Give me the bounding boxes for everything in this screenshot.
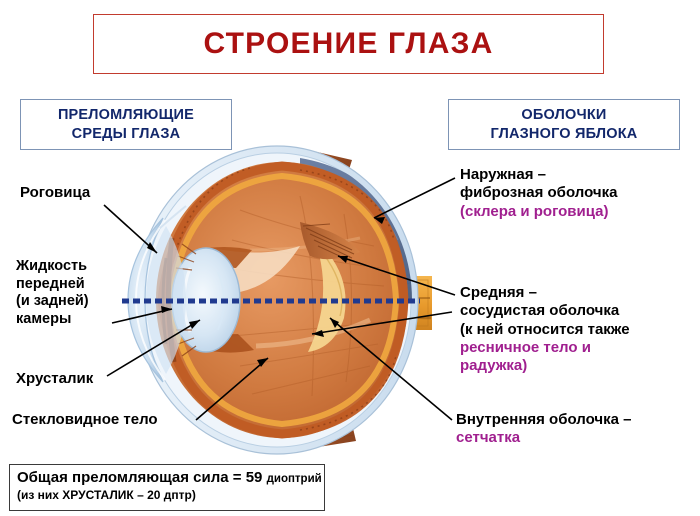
footer-line1: Общая преломляющая сила = 59 диоптрий [17, 469, 317, 486]
vitreous-body [156, 162, 408, 438]
label-inner-tunic: Внутренняя оболочка – сетчатка [456, 411, 631, 448]
label-cornea-text: Роговица [20, 184, 90, 201]
label-aqueous-humor-line1: Жидкость [16, 258, 89, 276]
label-cornea: Роговица [20, 184, 90, 202]
page-title: СТРОЕНИЕ ГЛАЗА [203, 27, 493, 61]
label-outer-tunic-line2: фиброзная оболочка [460, 184, 617, 202]
label-middle-tunic-line1: Средняя – [460, 284, 630, 302]
sclera [136, 146, 418, 454]
label-middle-tunic-line4: ресничное тело и [460, 339, 630, 357]
iris-upper [196, 247, 252, 268]
header-eyeball-tunics-line2: ГЛАЗНОГО ЯБЛОКА [491, 125, 638, 144]
footer-line2: (из них ХРУСТАЛИК – 20 дптр) [17, 488, 317, 502]
lens [172, 248, 240, 352]
label-vitreous-body-text: Стекловидное тело [12, 411, 158, 428]
extraocular-muscle-superior [288, 148, 352, 176]
ciliary-processes [176, 244, 196, 356]
header-refractive-media-line1: ПРЕЛОМЛЯЮЩИЕ [58, 106, 194, 125]
retina [172, 176, 396, 424]
page-title-box: СТРОЕНИЕ ГЛАЗА [93, 14, 604, 74]
header-eyeball-tunics-line1: ОБОЛОЧКИ [521, 106, 606, 125]
label-outer-tunic: Наружная – фиброзная оболочка (склера и … [460, 166, 617, 221]
vitreous-striations [228, 196, 384, 396]
sclera-cutaway [300, 158, 414, 300]
extraocular-muscle-inferior [300, 424, 356, 449]
anterior-chamber [146, 226, 186, 374]
label-vitreous-body: Стекловидное тело [12, 411, 158, 429]
optic-nerve [378, 276, 432, 330]
choroid-stipple [176, 168, 396, 430]
label-aqueous-humor-line3: (и задней) [16, 293, 89, 311]
label-lens: Хрусталик [16, 370, 93, 388]
cornea [128, 206, 186, 382]
leader-lines [104, 178, 455, 420]
label-outer-tunic-line3: (склера и роговица) [460, 203, 617, 221]
label-aqueous-humor-line2: передней [16, 276, 89, 294]
zonule-wedge [308, 244, 346, 352]
header-eyeball-tunics: ОБОЛОЧКИ ГЛАЗНОГО ЯБЛОКА [448, 99, 680, 150]
label-middle-tunic-line2: сосудистая оболочка [460, 302, 630, 320]
label-inner-tunic-line1: Внутренняя оболочка – [456, 411, 631, 429]
footer-line1-main: Общая преломляющая сила = 59 [17, 469, 267, 486]
label-lens-text: Хрусталик [16, 370, 93, 387]
label-middle-tunic: Средняя – сосудистая оболочка (к ней отн… [460, 284, 630, 375]
header-refractive-media-line2: СРЕДЫ ГЛАЗА [72, 125, 181, 144]
label-outer-tunic-line1: Наружная – [460, 166, 617, 184]
anterior-wedge [212, 246, 300, 292]
label-aqueous-humor: Жидкость передней (и задней) камеры [16, 258, 89, 329]
iris-lower [198, 334, 254, 353]
label-middle-tunic-line3: (к ней относится также [460, 321, 630, 339]
label-middle-tunic-line5: радужка) [460, 357, 630, 375]
choroid [162, 166, 404, 434]
header-refractive-media: ПРЕЛОМЛЯЮЩИЕ СРЕДЫ ГЛАЗА [20, 99, 232, 150]
ciliary-body [300, 222, 360, 260]
footer-refractive-power-box: Общая преломляющая сила = 59 диоптрий (и… [9, 464, 325, 511]
label-inner-tunic-line2: сетчатка [456, 429, 631, 447]
footer-line1-unit: диоптрий [267, 473, 322, 485]
label-aqueous-humor-line4: камеры [16, 311, 89, 329]
